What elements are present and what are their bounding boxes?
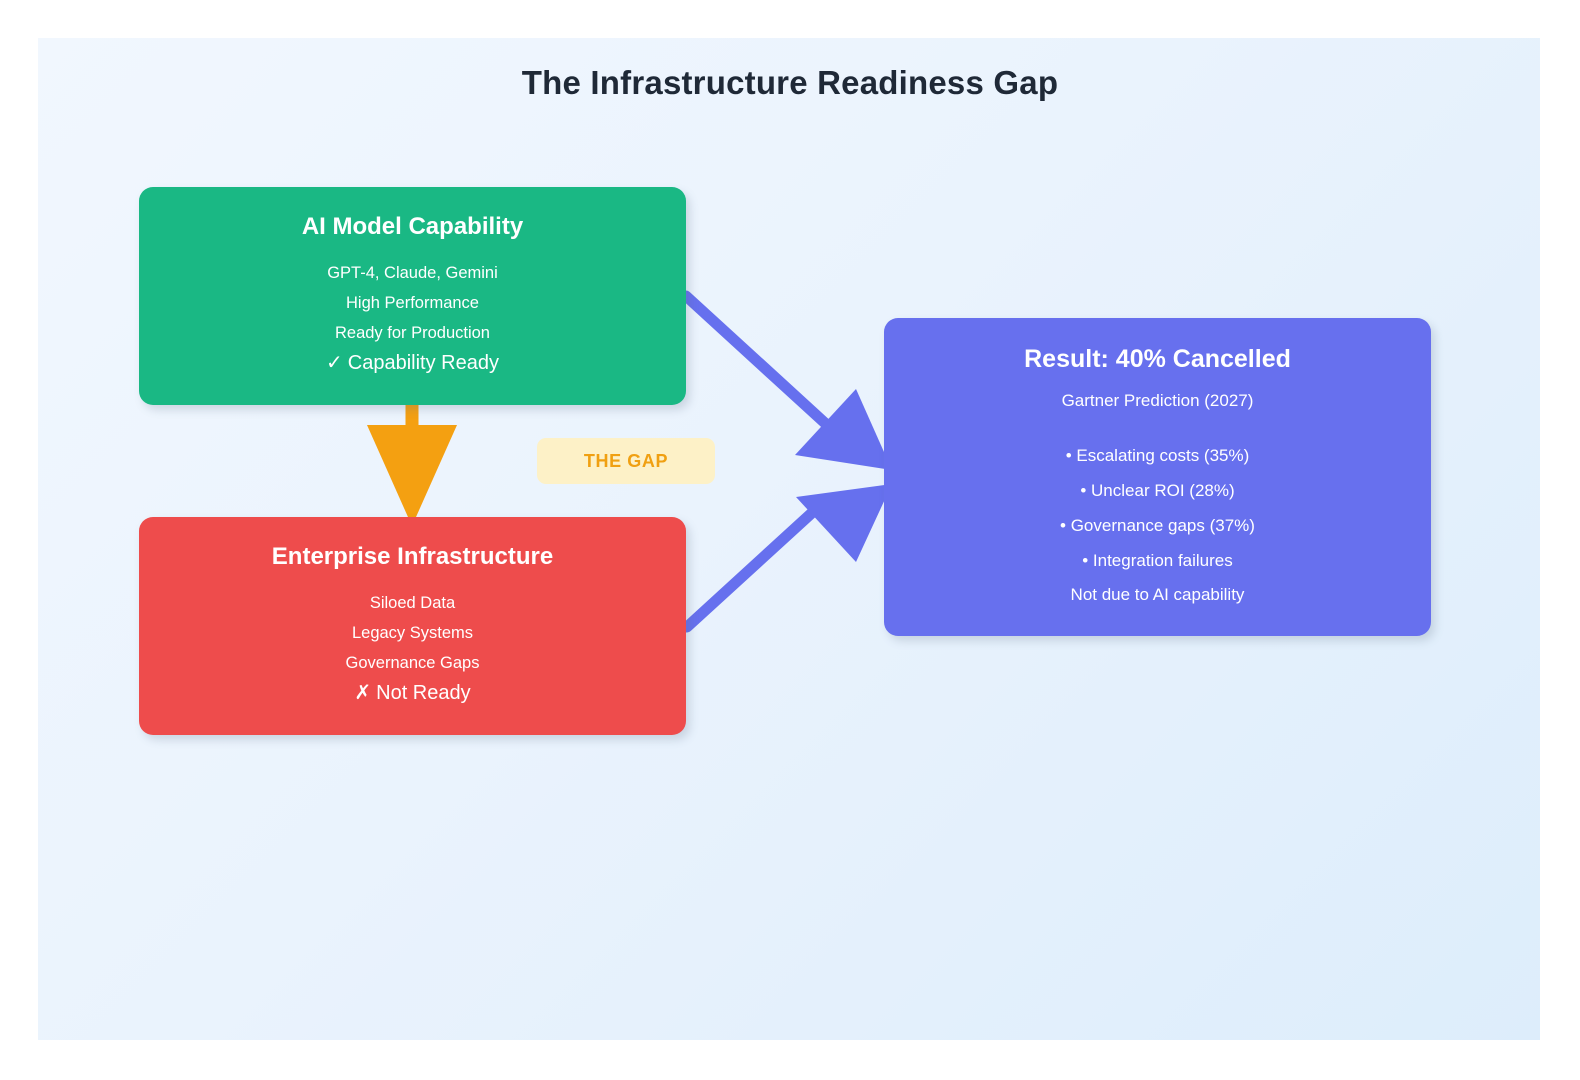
list-item: • Unclear ROI (28%) bbox=[884, 473, 1431, 508]
cross-icon: ✗ bbox=[354, 682, 371, 704]
check-icon: ✓ bbox=[326, 352, 343, 374]
node-title-result: Result: 40% Cancelled bbox=[884, 344, 1431, 374]
node-ai-model-capability[interactable]: AI Model Capability GPT-4, Claude, Gemin… bbox=[139, 187, 686, 405]
status-badge-ai-model: ✓Capability Ready bbox=[139, 348, 686, 378]
node-result[interactable]: Result: 40% Cancelled Gartner Prediction… bbox=[884, 318, 1431, 636]
node-line: GPT-4, Claude, Gemini bbox=[139, 258, 686, 288]
result-note: Not due to AI capability bbox=[884, 578, 1431, 612]
status-label: Not Ready bbox=[376, 682, 471, 704]
node-detail-list-ai-model: GPT-4, Claude, Gemini High Performance R… bbox=[139, 258, 686, 348]
node-enterprise-infrastructure[interactable]: Enterprise Infrastructure Siloed Data Le… bbox=[139, 517, 686, 735]
diagram-stage: The Infrastructure Readiness Gap AI Mode… bbox=[0, 0, 1580, 1080]
node-detail-list-enterprise-infrastructure: Siloed Data Legacy Systems Governance Ga… bbox=[139, 588, 686, 678]
node-title-ai-model: AI Model Capability bbox=[139, 213, 686, 242]
gap-label-text: THE GAP bbox=[584, 451, 668, 472]
page-title: The Infrastructure Readiness Gap bbox=[0, 64, 1580, 102]
node-title-enterprise-infrastructure: Enterprise Infrastructure bbox=[139, 543, 686, 572]
result-subtitle: Gartner Prediction (2027) bbox=[884, 386, 1431, 416]
node-line: Legacy Systems bbox=[139, 618, 686, 648]
result-bullet-list: • Escalating costs (35%) • Unclear ROI (… bbox=[884, 438, 1431, 578]
list-item: • Escalating costs (35%) bbox=[884, 438, 1431, 473]
list-item: • Integration failures bbox=[884, 543, 1431, 578]
node-line: High Performance bbox=[139, 288, 686, 318]
node-line: Siloed Data bbox=[139, 588, 686, 618]
status-badge-enterprise-infrastructure: ✗Not Ready bbox=[139, 678, 686, 708]
node-line: Governance Gaps bbox=[139, 648, 686, 678]
gap-label-badge: THE GAP bbox=[537, 438, 715, 484]
node-line: Ready for Production bbox=[139, 318, 686, 348]
list-item: • Governance gaps (37%) bbox=[884, 508, 1431, 543]
status-label: Capability Ready bbox=[348, 352, 499, 374]
